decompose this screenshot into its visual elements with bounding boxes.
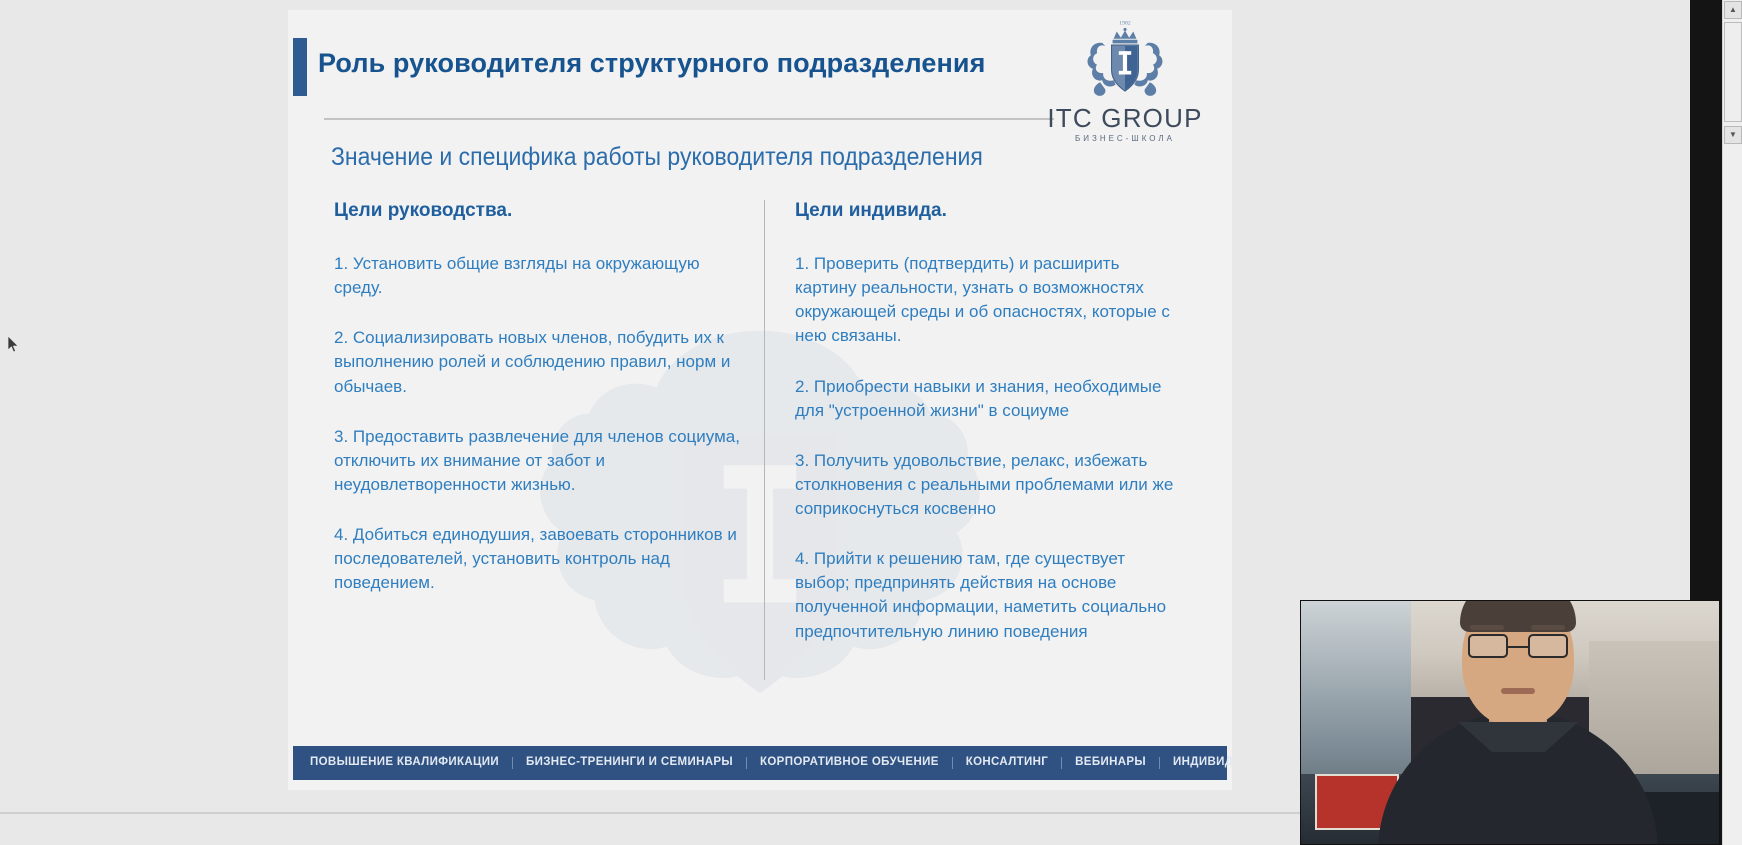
column-individual-goals: Цели индивида. 1. Проверить (подтвердить… — [764, 200, 1204, 680]
webcam-person-glasses — [1468, 634, 1508, 658]
column-management-goals: Цели руководства. 1. Установить общие вз… — [324, 200, 764, 680]
scroll-up-button[interactable]: ▲ — [1724, 1, 1742, 19]
slide-subtitle: Значение и специфика работы руководителя… — [331, 143, 983, 172]
webcam-person-glasses — [1528, 634, 1568, 658]
mouse-cursor-icon — [8, 336, 20, 354]
itc-group-logo: 1982 ITC GROUP БИЗНЕС-ШКОЛА — [1040, 16, 1210, 144]
application-window: Щелкните, чтобы добавить заметки Роль ру… — [0, 0, 1742, 845]
footer-item: БИЗНЕС-ТРЕНИНГИ И СЕМИНАРЫ — [513, 757, 747, 769]
footer-item: ПОВЫШЕНИЕ КВАЛИФИКАЦИИ — [297, 757, 513, 769]
logo-wordmark: ITC GROUP — [1040, 105, 1210, 131]
two-column-body: Цели руководства. 1. Установить общие вз… — [324, 200, 1204, 680]
goal-item: 3. Предоставить развлечение для членов с… — [334, 425, 742, 497]
svg-text:1982: 1982 — [1119, 20, 1131, 26]
chevron-down-icon: ▼ — [1729, 131, 1737, 139]
goal-item: 2. Приобрести навыки и знания, необходим… — [795, 375, 1182, 423]
logo-tagline: БИЗНЕС-ШКОЛА — [1040, 134, 1210, 143]
presentation-slide[interactable]: Роль руководителя структурного подраздел… — [288, 10, 1232, 790]
webcam-person-eyebrow — [1470, 625, 1504, 630]
title-accent-bar — [293, 38, 307, 96]
slide-footer-banner: ПОВЫШЕНИЕ КВАЛИФИКАЦИИ БИЗНЕС-ТРЕНИНГИ И… — [293, 746, 1227, 780]
heraldic-crest-icon: 1982 — [1070, 16, 1180, 104]
footer-item: ИНДИВИДУАЛЬНОЕ ОБУЧЕНИЕ — [1160, 757, 1232, 769]
goal-item: 4. Прийти к решению там, где существует … — [795, 547, 1182, 644]
scrollbar-thumb[interactable] — [1724, 22, 1742, 122]
goal-item: 4. Добиться единодушия, завоевать сторон… — [334, 523, 742, 595]
footer-item: ВЕБИНАРЫ — [1062, 757, 1160, 769]
vertical-scrollbar[interactable]: ▲ ▼ — [1722, 0, 1742, 845]
webcam-glasses-bridge — [1506, 646, 1528, 648]
footer-item: КОНСАЛТИНГ — [953, 757, 1062, 769]
goal-item: 2. Социализировать новых членов, побудит… — [334, 326, 742, 398]
slide-title: Роль руководителя структурного подраздел… — [318, 48, 985, 79]
goal-item: 1. Проверить (подтвердить) и расширить к… — [795, 252, 1182, 349]
goal-item: 1. Установить общие взгляды на окружающу… — [334, 252, 742, 300]
scroll-down-button[interactable]: ▼ — [1724, 126, 1742, 144]
goal-item: 3. Получить удовольствие, релакс, избежа… — [795, 449, 1182, 521]
chevron-up-icon: ▲ — [1729, 6, 1737, 14]
title-underline-rule — [324, 118, 1054, 120]
column-heading: Цели индивида. — [795, 200, 1182, 222]
webcam-person-eyebrow — [1531, 625, 1565, 630]
webcam-person-mouth — [1501, 688, 1535, 694]
column-heading: Цели руководства. — [334, 200, 742, 222]
webcam-video-overlay[interactable] — [1300, 600, 1720, 845]
footer-item: КОРПОРАТИВНОЕ ОБУЧЕНИЕ — [747, 757, 953, 769]
